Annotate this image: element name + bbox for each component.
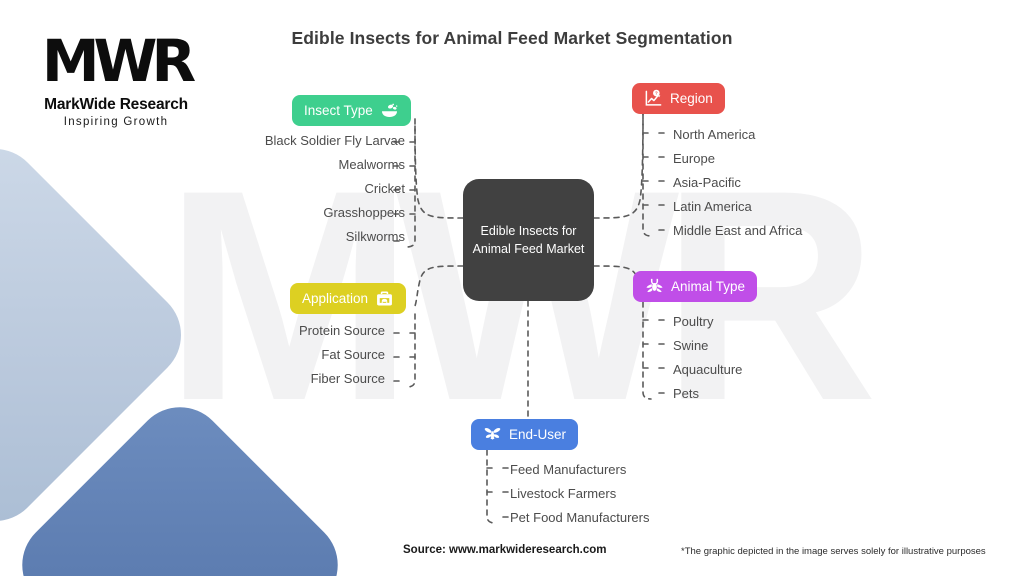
branch-items-region: North America Europe Asia-Pacific Latin … [673,123,993,243]
branch-badge-insect-type[interactable]: Insect Type [292,95,411,126]
list-item[interactable]: Middle East and Africa [673,219,993,243]
branch-badge-end-user[interactable]: End-User [471,419,578,450]
list-item[interactable]: Cricket [120,177,405,201]
list-item[interactable]: Pet Food Manufacturers [510,506,840,530]
branch-label-region: Region [670,91,713,106]
branch-label-animal-type: Animal Type [671,279,745,294]
list-item[interactable]: Aquaculture [673,358,993,382]
list-item[interactable]: Asia-Pacific [673,171,993,195]
list-item[interactable]: Livestock Farmers [510,482,840,506]
list-item[interactable]: Feed Manufacturers [510,458,840,482]
list-item[interactable]: North America [673,123,993,147]
branch-badge-animal-type[interactable]: Animal Type [633,271,757,302]
list-item[interactable]: Black Soldier Fly Larvae [120,129,405,153]
list-item[interactable]: Latin America [673,195,993,219]
list-item[interactable]: Europe [673,147,993,171]
list-item[interactable]: Silkworms [120,225,405,249]
chart-location-icon: ? [644,89,663,108]
list-item[interactable]: Pets [673,382,993,406]
branch-items-application: Protein Source Fat Source Fiber Source [130,319,385,391]
butterfly-icon [483,425,502,444]
branch-items-animal-type: Poultry Swine Aquaculture Pets [673,310,993,406]
briefcase-icon [375,289,394,308]
branch-items-end-user: Feed Manufacturers Livestock Farmers Pet… [510,458,840,530]
disclaimer-label: *The graphic depicted in the image serve… [681,546,986,557]
list-item[interactable]: Protein Source [130,319,385,343]
center-node-label: Edible Insects for Animal Feed Market [469,222,588,258]
list-item[interactable]: Mealworms [120,153,405,177]
list-item[interactable]: Fat Source [130,343,385,367]
branch-label-application: Application [302,291,368,306]
svg-text:?: ? [655,91,658,97]
branch-label-end-user: End-User [509,427,566,442]
beetle-icon [645,277,664,296]
branch-badge-region[interactable]: ? Region [632,83,725,114]
list-item[interactable]: Poultry [673,310,993,334]
insect-bowl-icon [380,101,399,120]
source-label: Source: www.markwideresearch.com [403,544,606,556]
list-item[interactable]: Grasshoppers [120,201,405,225]
branch-label-insect-type: Insect Type [304,103,373,118]
list-item[interactable]: Fiber Source [130,367,385,391]
branch-items-insect-type: Black Soldier Fly Larvae Mealworms Crick… [120,129,405,249]
branch-badge-application[interactable]: Application [290,283,406,314]
list-item[interactable]: Swine [673,334,993,358]
infographic-canvas: MWR MWR MarkWide Research Inspiring Grow… [0,0,1024,576]
center-node[interactable]: Edible Insects for Animal Feed Market [463,179,594,301]
